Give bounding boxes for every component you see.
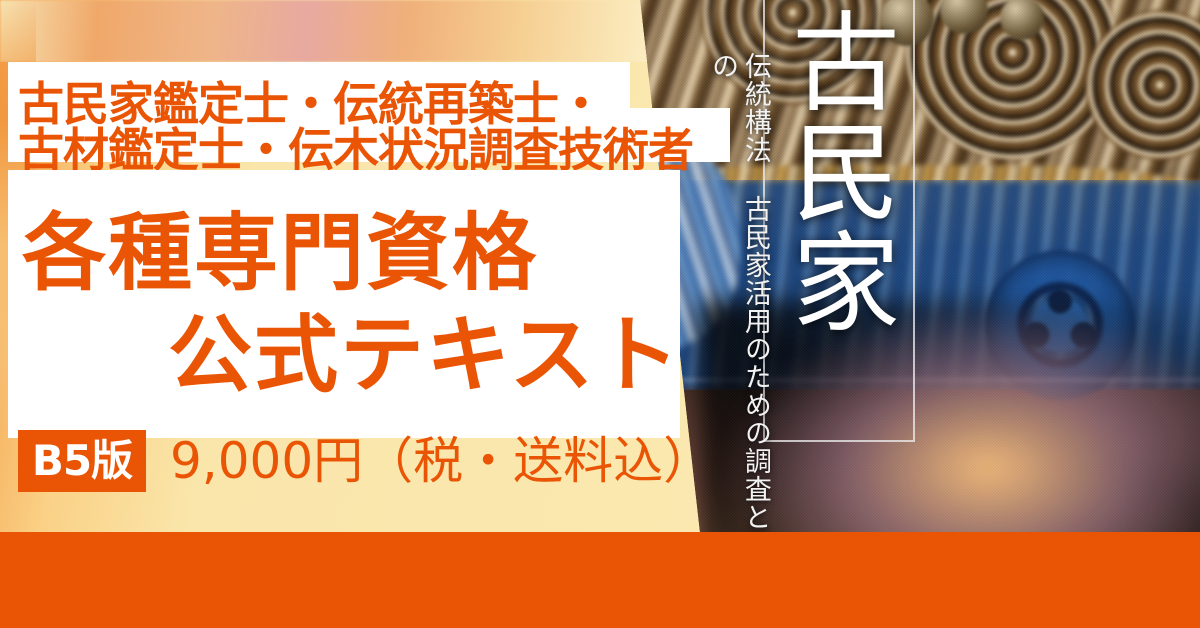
book-cover-title: 古民家	[772, 6, 902, 336]
format-badge: B5版	[18, 430, 146, 492]
cream-top-gradient-strip	[0, 0, 700, 62]
cta-bar[interactable]: 詳細・ご購入はこちら	[0, 532, 1200, 628]
promo-banner: 古民家 伝統構法 古民家活用のための調査と再生の 古民家鑑定士・伝統再築士・ 古…	[0, 0, 1200, 628]
headline-line-2: 公式テキスト	[168, 288, 681, 409]
price-label: 9,000円（税・送料込）	[170, 430, 713, 492]
